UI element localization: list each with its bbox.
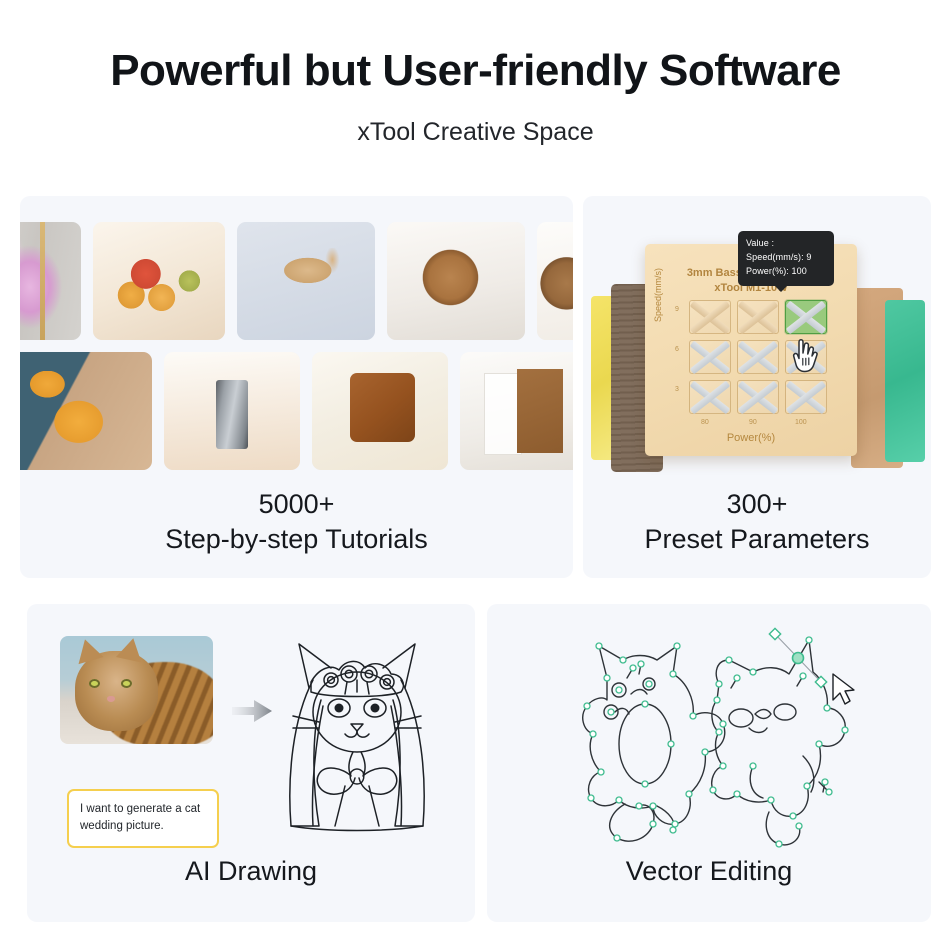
test-cell-r2c1[interactable] [737, 380, 779, 414]
parameter-tooltip: Value : Speed(mm/s): 9 Power(%): 100 [738, 231, 834, 286]
gallery-tile-orchid-ornament[interactable] [20, 222, 81, 340]
y-tick-0: 9 [675, 306, 679, 313]
y-axis-label: Speed(mm/s) [653, 268, 663, 322]
tooltip-heading: Value : [746, 237, 826, 251]
gallery-tile-wax-seal[interactable] [537, 222, 573, 340]
x-axis-label: Power(%) [645, 432, 857, 444]
gallery-tile-rocking-horse[interactable] [237, 222, 375, 340]
x-tick-1: 90 [749, 419, 757, 426]
test-cell-r0c1[interactable] [737, 300, 779, 334]
panel-ai-drawing[interactable]: I want to generate a cat wedding picture… [27, 604, 475, 922]
page-title: Powerful but User-friendly Software [0, 46, 951, 97]
ai-prompt-box[interactable]: I want to generate a cat wedding picture… [67, 789, 219, 848]
tooltip-power: Power(%): 100 [746, 265, 826, 279]
tutorials-count: 5000+ [20, 487, 573, 522]
gallery-tile-bobo-keychain[interactable] [20, 352, 152, 470]
tutorials-caption: 5000+ Step-by-step Tutorials [20, 487, 573, 556]
bobo-keychain-image [20, 352, 152, 470]
wood-bookend-image [460, 352, 573, 470]
marketing-page: Powerful but User-friendly Software xToo… [0, 0, 951, 951]
cat-head [75, 651, 158, 731]
test-cell-r1c0[interactable] [689, 340, 731, 374]
bezier-anchor-selected [793, 653, 804, 664]
tutorial-gallery [20, 222, 573, 477]
tutorials-label: Step-by-step Tutorials [20, 522, 573, 557]
gallery-tile-wood-bookend[interactable] [460, 352, 573, 470]
gallery-tile-wooden-bowl[interactable] [387, 222, 525, 340]
gallery-tile-engraved-lighter[interactable] [164, 352, 300, 470]
rocking-horse-image [237, 222, 375, 340]
material-green-acrylic[interactable] [885, 300, 925, 462]
presets-count: 300+ [583, 487, 931, 522]
page-subtitle: xTool Creative Space [0, 118, 951, 147]
presets-label: Preset Parameters [583, 522, 931, 557]
gallery-tile-leather-wallet[interactable] [312, 352, 448, 470]
macarons-image [93, 222, 225, 340]
y-tick-2: 3 [675, 386, 679, 393]
test-cell-r2c0[interactable] [689, 380, 731, 414]
panel-vector-editing[interactable]: Vector Editing [487, 604, 931, 922]
x-tick-0: 80 [701, 419, 709, 426]
x-tick-2: 100 [795, 419, 807, 426]
wooden-bowl-image [387, 222, 525, 340]
test-cell-r2c2[interactable] [785, 380, 827, 414]
vector-label: Vector Editing [487, 854, 931, 889]
test-cell-r0c2-selected[interactable] [785, 300, 827, 334]
gallery-row-2 [20, 352, 573, 470]
hand-pointer-cursor [788, 336, 822, 374]
y-tick-1: 6 [675, 346, 679, 353]
test-cell-r1c1[interactable] [737, 340, 779, 374]
test-cell-r0c0[interactable] [689, 300, 731, 334]
arrow-pointer-cursor [833, 674, 854, 704]
gallery-row-1 [20, 222, 573, 340]
gallery-tile-macarons[interactable] [93, 222, 225, 340]
tooltip-speed: Speed(mm/s): 9 [746, 251, 826, 265]
engraved-lighter-image [164, 352, 300, 470]
vector-canvas[interactable] [507, 616, 911, 854]
ai-caption: AI Drawing [27, 854, 475, 889]
ai-label: AI Drawing [27, 854, 475, 889]
generated-cat-sketch[interactable] [257, 626, 457, 846]
leather-wallet-image [312, 352, 448, 470]
wax-seal-image [537, 222, 573, 340]
orchid-ornament-image [20, 222, 81, 340]
source-cat-photo[interactable] [60, 636, 213, 744]
presets-caption: 300+ Preset Parameters [583, 487, 931, 556]
vector-caption: Vector Editing [487, 854, 931, 889]
panel-presets[interactable]: 3mm Basswoodplywood xTool M1-10W Speed(m… [583, 196, 931, 578]
panel-tutorials[interactable]: 5000+ Step-by-step Tutorials [20, 196, 573, 578]
